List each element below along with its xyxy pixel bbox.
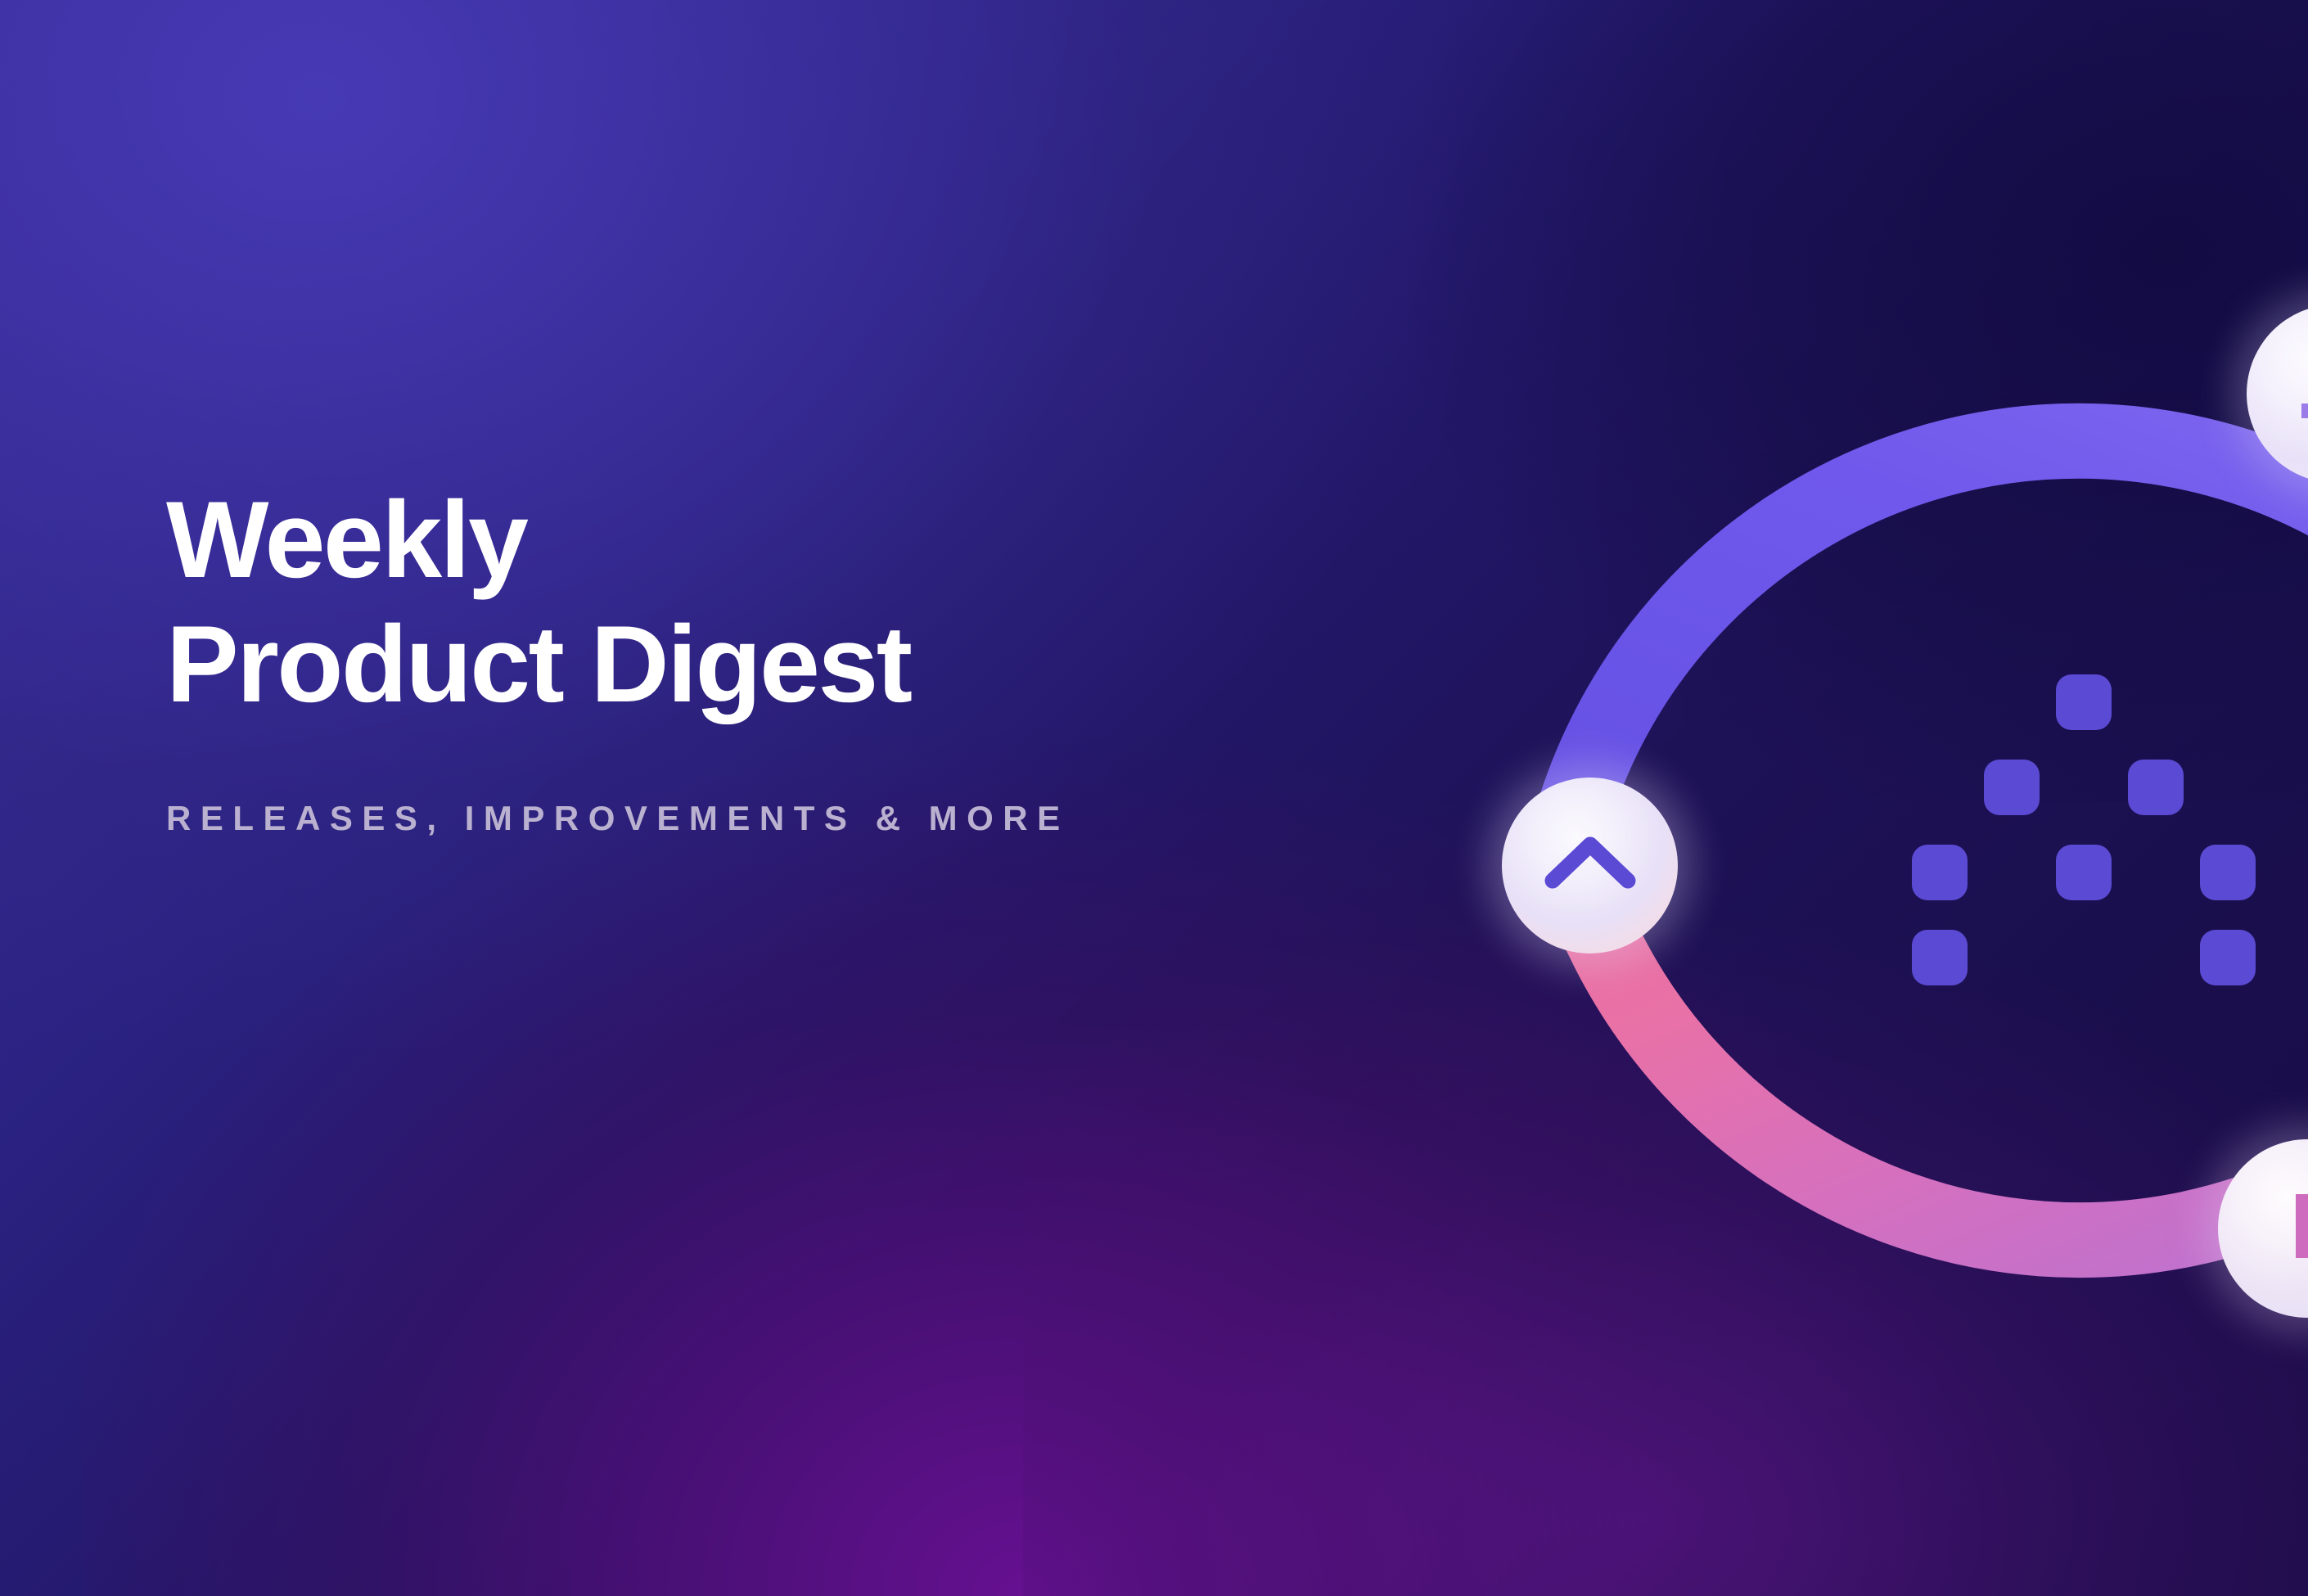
page-title: Weekly Product Digest: [166, 479, 1394, 727]
grid-dot: [1912, 845, 1968, 900]
grid-dot: [1912, 930, 1968, 985]
grid-dot: [2056, 845, 2112, 900]
pyramid-dot-grid: [1912, 674, 2256, 994]
chevron-up-icon: [1544, 828, 1636, 904]
hero-text-block: Weekly Product Digest RELEASES, IMPROVEM…: [166, 479, 1394, 838]
grid-dot: [2200, 845, 2256, 900]
page-subtitle: RELEASES, IMPROVEMENTS & MORE: [166, 799, 1394, 838]
node-chevron-up[interactable]: [1502, 778, 1678, 954]
grid-dot: [2200, 930, 2256, 985]
clock-icon: [2265, 1185, 2308, 1277]
clock-icon: [2294, 349, 2308, 440]
grid-dot: [1984, 760, 2040, 815]
grid-dot: [2128, 760, 2184, 815]
grid-dot: [2056, 674, 2112, 730]
